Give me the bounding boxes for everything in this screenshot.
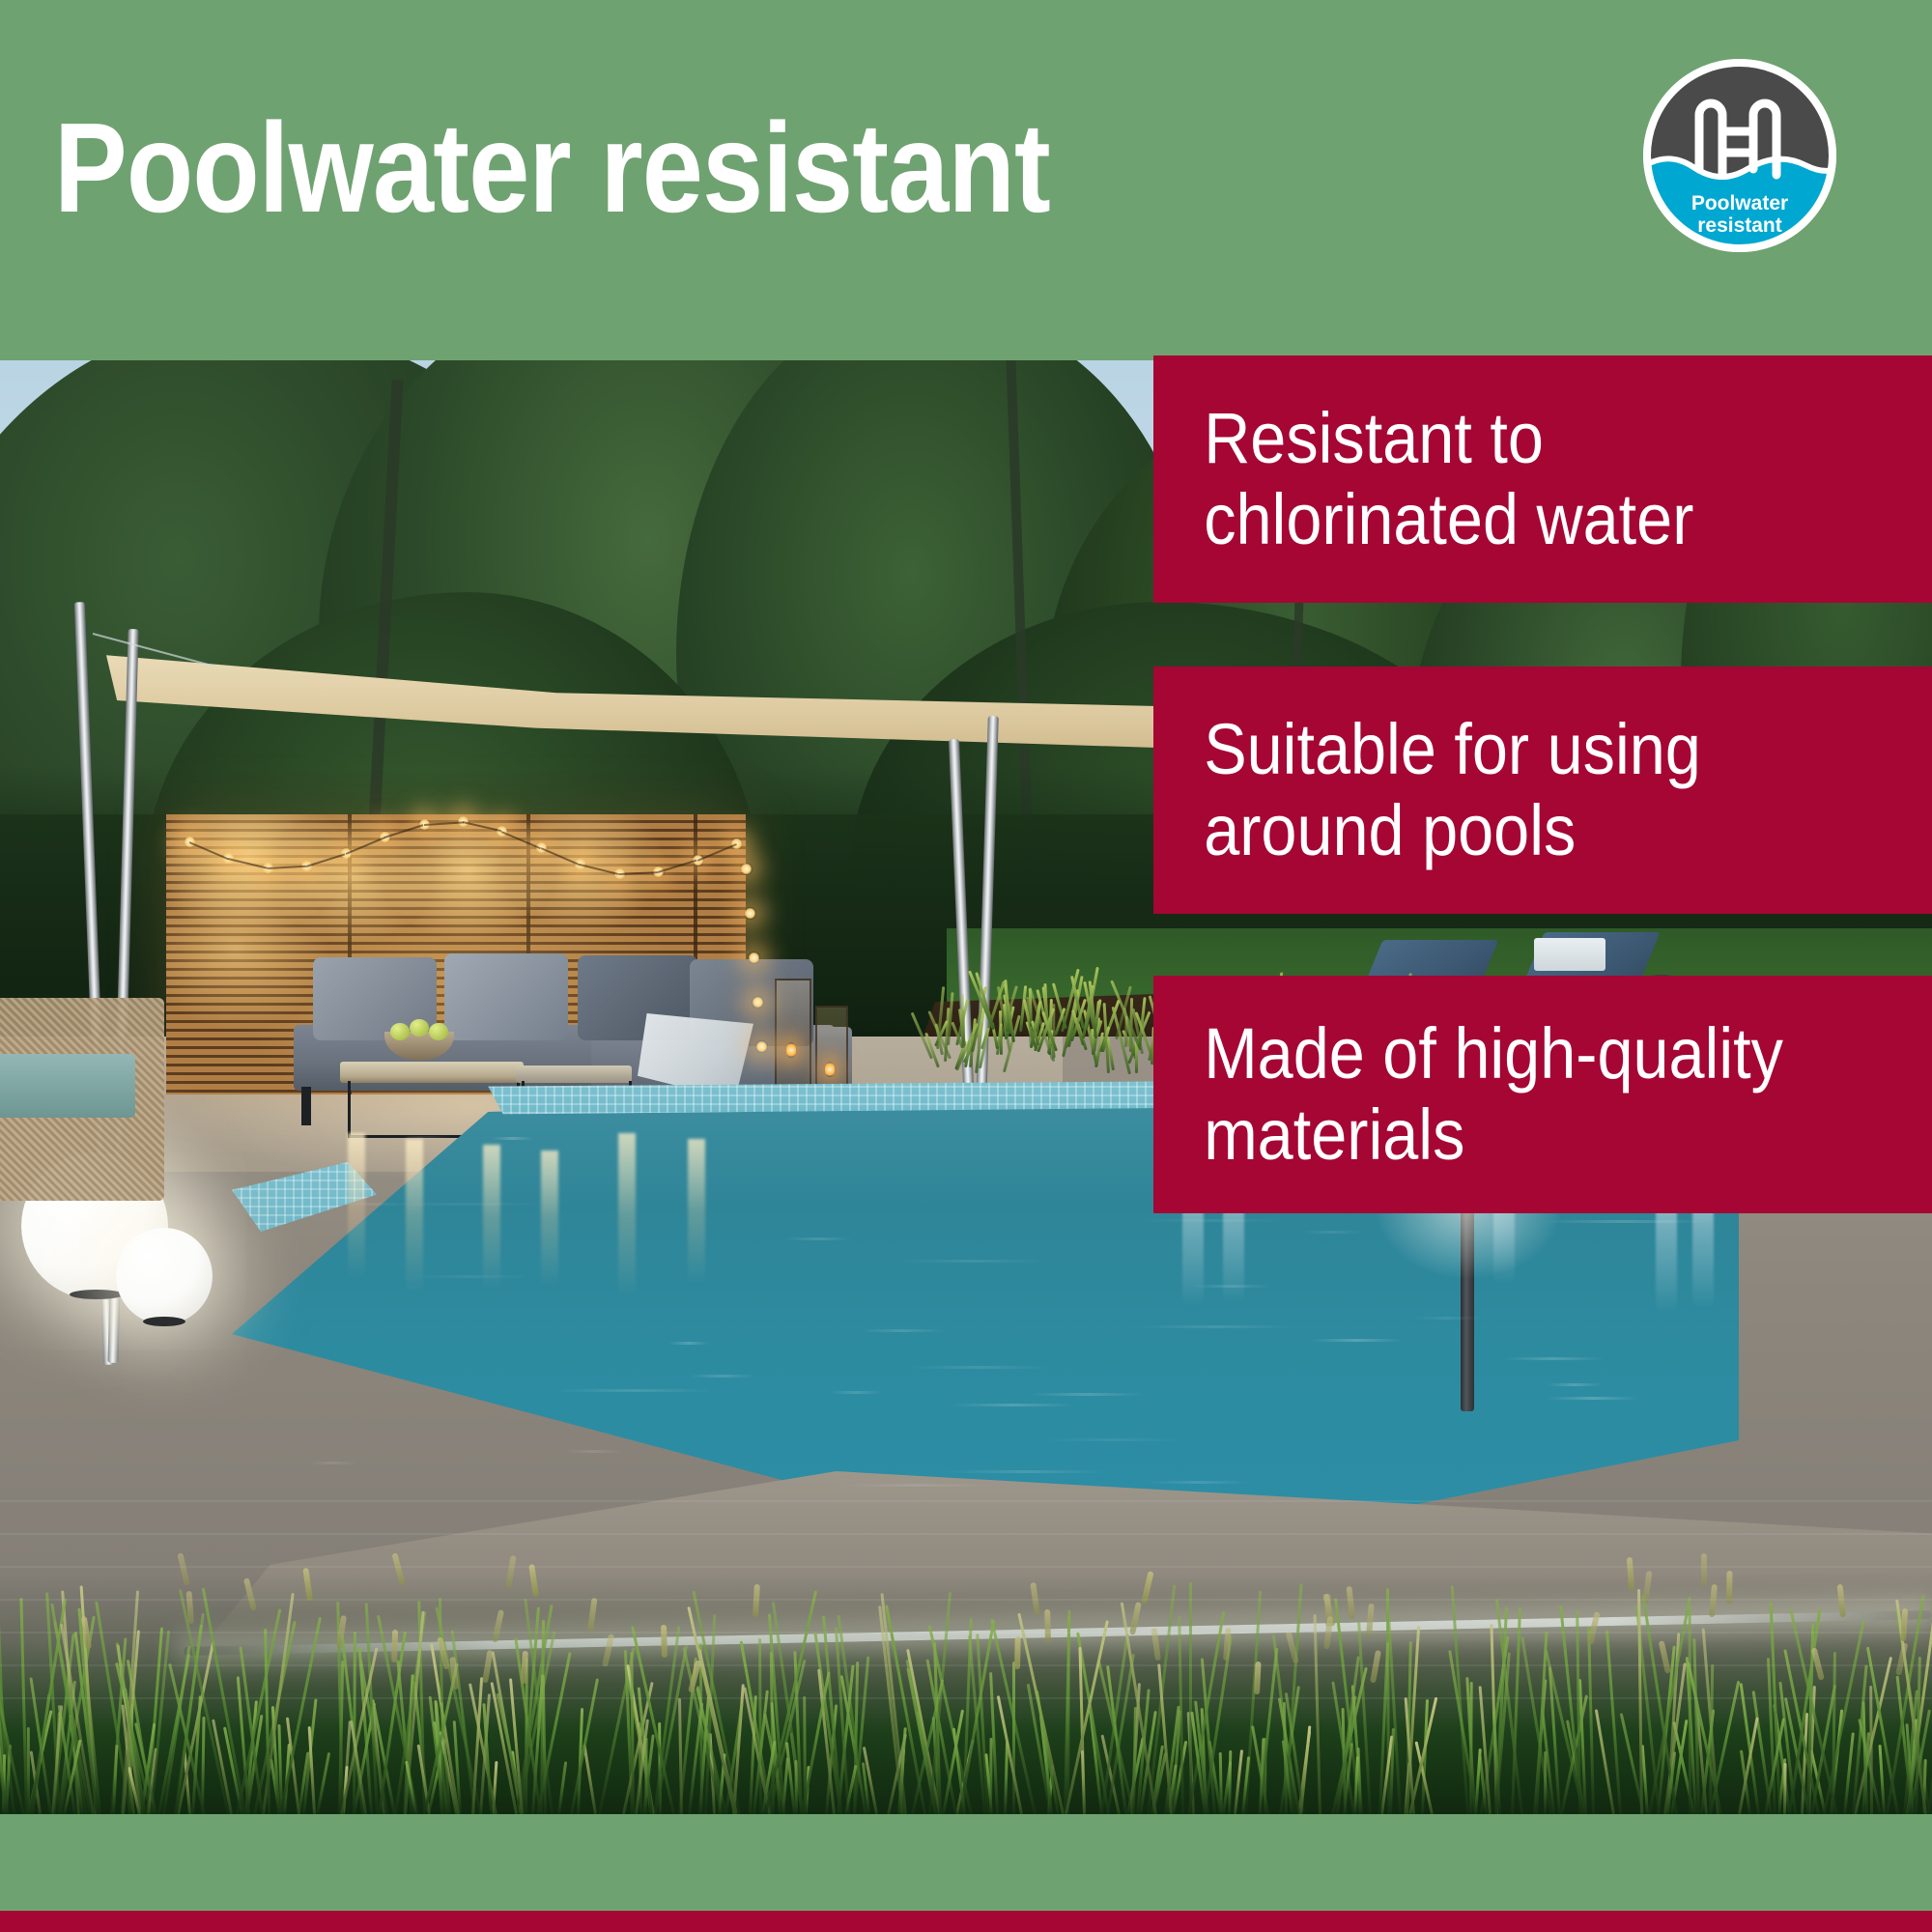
water-ripple: [492, 1137, 533, 1140]
water-reflection: [406, 1139, 423, 1293]
paver-joint: [0, 1566, 1932, 1568]
footer-green-band: [0, 1814, 1932, 1911]
water-ripple: [1146, 1481, 1252, 1484]
water-ripple: [689, 1375, 757, 1378]
poolwater-resistant-badge: Poolwater resistant: [1639, 55, 1840, 256]
water-ripple: [1311, 1339, 1403, 1342]
string-light-bulb: [740, 863, 753, 875]
fruit: [410, 1019, 429, 1037]
lantern-flame: [825, 1062, 835, 1077]
water-reflection: [688, 1139, 705, 1284]
callout-text-3: Made of high-quality materials: [1153, 1013, 1805, 1177]
string-light-bulb: [748, 952, 760, 964]
callout-text-1: Resistant to chlorinated water: [1153, 398, 1717, 561]
paver-joint: [0, 1632, 1932, 1634]
water-ripple: [1540, 1220, 1709, 1223]
water-reflection: [541, 1151, 558, 1286]
sphere-lamp-base: [70, 1290, 124, 1299]
water-reflection: [483, 1145, 500, 1290]
water-ripple: [414, 1275, 529, 1278]
string-light-bulb: [755, 1040, 768, 1053]
water-ripple: [943, 1470, 1110, 1473]
string-light-bulb: [744, 907, 756, 920]
water-ripple: [1411, 1317, 1483, 1320]
page-title: Poolwater resistant: [54, 104, 1050, 232]
water-ripple: [911, 1366, 1047, 1369]
wicker-cushion: [0, 1054, 135, 1118]
fruit: [429, 1023, 448, 1040]
towel: [1534, 938, 1605, 971]
grass-seedhead: [661, 1625, 668, 1658]
water-ripple: [554, 1389, 715, 1392]
poster-canvas: Poolwater resistant: [0, 0, 1932, 1932]
coffee-table: [340, 1062, 524, 1083]
water-ripple: [829, 1391, 883, 1394]
callout-text-2: Suitable for using around pools: [1153, 709, 1723, 872]
water-ripple: [1302, 1231, 1363, 1234]
water-ripple: [1136, 1219, 1289, 1222]
water-ripple: [838, 1484, 996, 1487]
water-ripple: [1546, 1383, 1603, 1386]
grass-seedhead: [1044, 1609, 1051, 1642]
paver-joint: [0, 1697, 1932, 1699]
badge-line-2: resistant: [1697, 214, 1782, 237]
sphere-lamp-base: [143, 1317, 185, 1326]
water-ripple: [1503, 1357, 1604, 1360]
water-ripple: [668, 1342, 710, 1345]
water-ripple: [859, 1329, 946, 1332]
paver-joint: [0, 1664, 1932, 1666]
footer-red-band: [0, 1911, 1932, 1932]
grass-blade: [1688, 1605, 1690, 1814]
water-reflection: [348, 1133, 365, 1278]
callout-box-3: Made of high-quality materials: [1153, 976, 1932, 1213]
water-ripple: [898, 1260, 1048, 1263]
water-reflection: [618, 1133, 636, 1297]
string-light-bulb: [752, 996, 764, 1009]
sphere-lamp: [116, 1228, 213, 1324]
callout-box-2: Suitable for using around pools: [1153, 667, 1932, 914]
paver-joint: [0, 1500, 1932, 1502]
paver-joint: [0, 1533, 1932, 1535]
water-ripple: [1028, 1393, 1145, 1396]
water-ripple: [1547, 1397, 1640, 1400]
sofa-cushion: [444, 953, 568, 1040]
lantern-flame: [786, 1042, 796, 1058]
header-band: Poolwater resistant: [0, 0, 1932, 360]
callout-box-1: Resistant to chlorinated water: [1153, 355, 1932, 603]
sofa-leg: [301, 1087, 311, 1125]
badge-line-1: Poolwater: [1691, 192, 1788, 214]
lantern: [775, 979, 811, 1089]
paver-joint: [0, 1599, 1932, 1601]
water-ripple: [564, 1450, 622, 1453]
grass-seedhead: [1701, 1553, 1707, 1586]
fruit: [390, 1023, 410, 1040]
water-ripple: [307, 1462, 358, 1464]
grass-blade: [1218, 1752, 1222, 1814]
water-ripple: [784, 1237, 852, 1240]
water-ripple: [1039, 1438, 1186, 1441]
grass-blade: [1783, 1763, 1787, 1814]
water-ripple: [950, 1404, 1076, 1406]
